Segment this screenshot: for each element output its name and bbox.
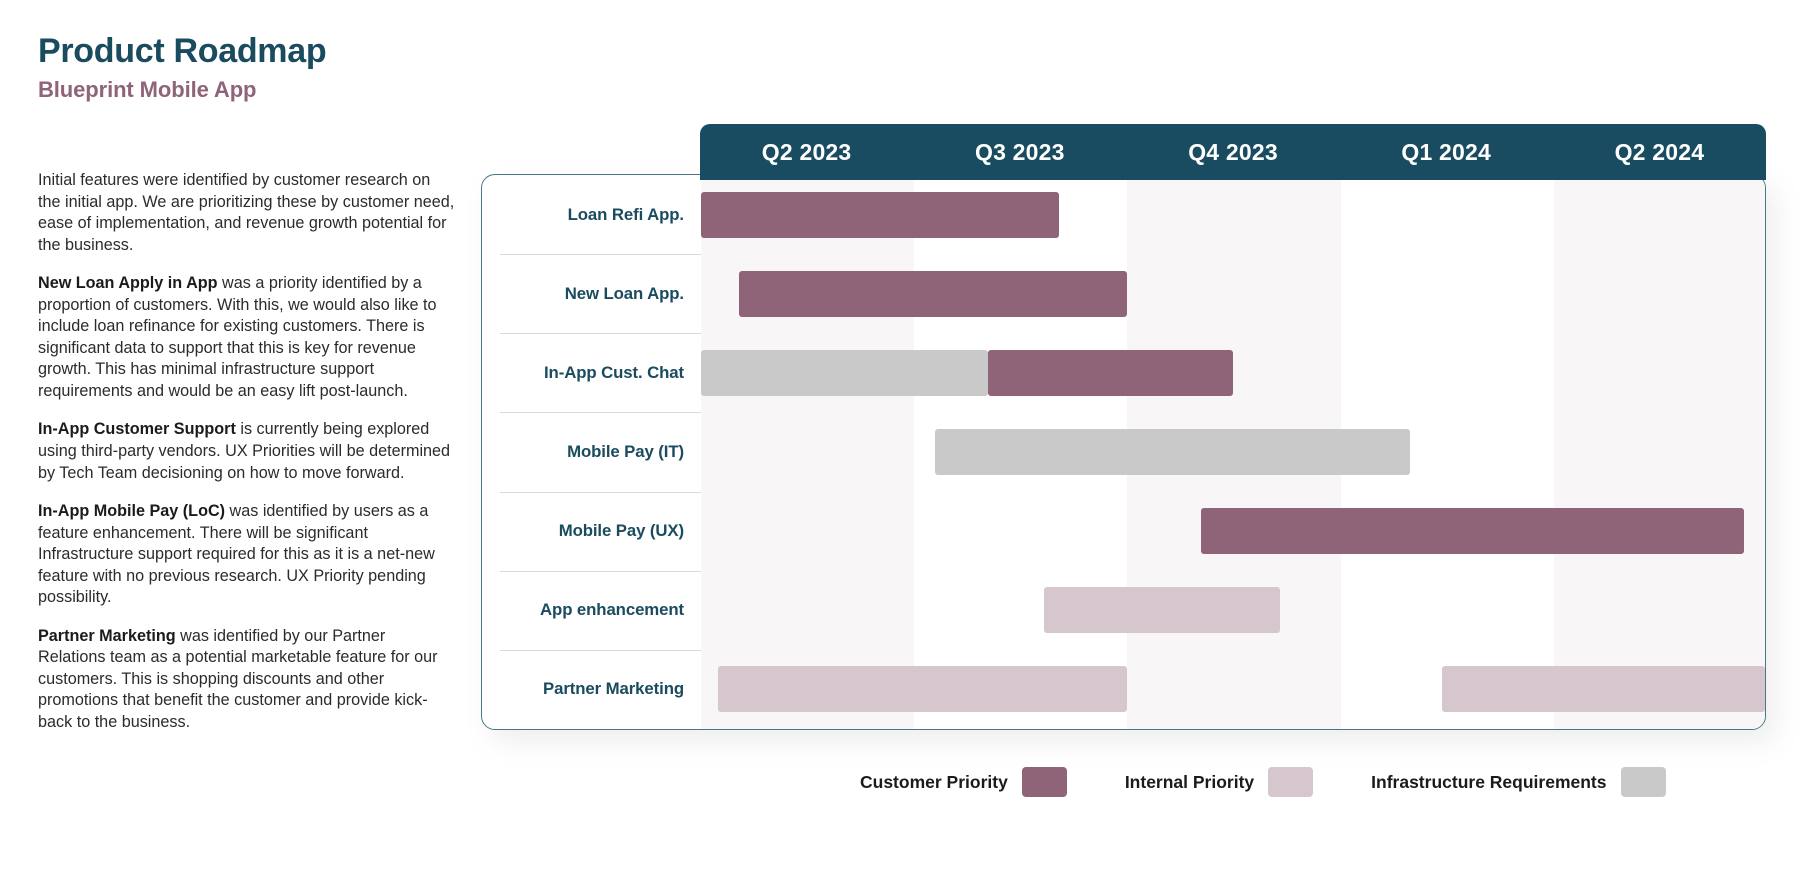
gantt-row-track: [701, 333, 1765, 412]
narrative-lead: In-App Mobile Pay (LoC): [38, 502, 225, 520]
legend-swatch-infra: [1621, 767, 1666, 797]
gantt-row-track: [701, 492, 1765, 571]
gantt-bar-infra[interactable]: [935, 429, 1410, 475]
gantt-bar-customer[interactable]: [739, 271, 1126, 317]
gantt-row-label: Mobile Pay (UX): [482, 521, 701, 541]
quarter-header-q2-2024: Q2 2024: [1553, 139, 1766, 166]
narrative-paragraph: In-App Customer Support is currently bei…: [38, 419, 456, 484]
gantt-row[interactable]: New Loan App.: [482, 254, 1765, 333]
gantt-bar-customer[interactable]: [988, 350, 1233, 396]
gantt-row[interactable]: In-App Cust. Chat: [482, 333, 1765, 412]
gantt-row-label: App enhancement: [482, 600, 701, 620]
gantt-row-track: [701, 650, 1765, 729]
quarter-header-q4-2023: Q4 2023: [1126, 139, 1339, 166]
gantt-chart-card: Loan Refi App.New Loan App.In-App Cust. …: [481, 174, 1766, 730]
quarter-header-bar: Q2 2023Q3 2023Q4 2023Q1 2024Q2 2024: [700, 124, 1766, 180]
narrative-lead: New Loan Apply in App: [38, 274, 218, 292]
narrative-text: Initial features were identified by cust…: [38, 170, 456, 734]
row-divider: [500, 492, 701, 493]
gantt-row-label: In-App Cust. Chat: [482, 363, 701, 383]
gantt-row[interactable]: Mobile Pay (UX): [482, 492, 1765, 571]
legend-label: Infrastructure Requirements: [1371, 772, 1606, 793]
gantt-row-track: [701, 254, 1765, 333]
page-title: Product Roadmap: [38, 32, 458, 70]
narrative-paragraph: New Loan Apply in App was a priority ide…: [38, 273, 456, 402]
gantt-row[interactable]: Partner Marketing: [482, 650, 1765, 729]
legend-item-customer[interactable]: Customer Priority: [860, 767, 1067, 797]
gantt-row[interactable]: Loan Refi App.: [482, 175, 1765, 254]
gantt-row-label: Loan Refi App.: [482, 205, 701, 225]
gantt-bar-internal[interactable]: [1442, 666, 1765, 712]
quarter-header-q2-2023: Q2 2023: [700, 139, 913, 166]
narrative-paragraph: In-App Mobile Pay (LoC) was identified b…: [38, 501, 456, 609]
legend-label: Customer Priority: [860, 772, 1008, 793]
roadmap-page: Product Roadmap Blueprint Mobile App Ini…: [0, 0, 1806, 879]
narrative-lead: In-App Customer Support: [38, 420, 236, 438]
row-divider: [500, 333, 701, 334]
gantt-row[interactable]: App enhancement: [482, 571, 1765, 650]
row-divider: [500, 650, 701, 651]
legend-item-infra[interactable]: Infrastructure Requirements: [1371, 767, 1665, 797]
gantt-row-label: Partner Marketing: [482, 679, 701, 699]
legend-swatch-internal: [1268, 767, 1313, 797]
gantt-row[interactable]: Mobile Pay (IT): [482, 412, 1765, 491]
gantt-bar-customer[interactable]: [701, 192, 1059, 238]
quarter-header-q1-2024: Q1 2024: [1340, 139, 1553, 166]
gantt-bar-internal[interactable]: [1044, 587, 1280, 633]
page-header: Product Roadmap Blueprint Mobile App: [38, 32, 458, 103]
chart-legend: Customer PriorityInternal PriorityInfras…: [860, 762, 1750, 802]
legend-swatch-customer: [1022, 767, 1067, 797]
row-divider: [500, 412, 701, 413]
gantt-row-track: [701, 571, 1765, 650]
gantt-row-label: New Loan App.: [482, 284, 701, 304]
narrative-paragraph: Initial features were identified by cust…: [38, 170, 456, 256]
quarter-header-q3-2023: Q3 2023: [913, 139, 1126, 166]
legend-label: Internal Priority: [1125, 772, 1254, 793]
gantt-bar-customer[interactable]: [1201, 508, 1744, 554]
narrative-lead: Partner Marketing: [38, 627, 176, 645]
row-divider: [500, 571, 701, 572]
row-divider: [500, 254, 701, 255]
gantt-rows: Loan Refi App.New Loan App.In-App Cust. …: [482, 175, 1765, 729]
gantt-row-track: [701, 175, 1765, 254]
page-subtitle: Blueprint Mobile App: [38, 77, 458, 103]
gantt-bar-internal[interactable]: [718, 666, 1127, 712]
gantt-bar-infra[interactable]: [701, 350, 988, 396]
legend-item-internal[interactable]: Internal Priority: [1125, 767, 1313, 797]
gantt-row-label: Mobile Pay (IT): [482, 442, 701, 462]
gantt-row-track: [701, 412, 1765, 491]
narrative-paragraph: Partner Marketing was identified by our …: [38, 626, 456, 734]
